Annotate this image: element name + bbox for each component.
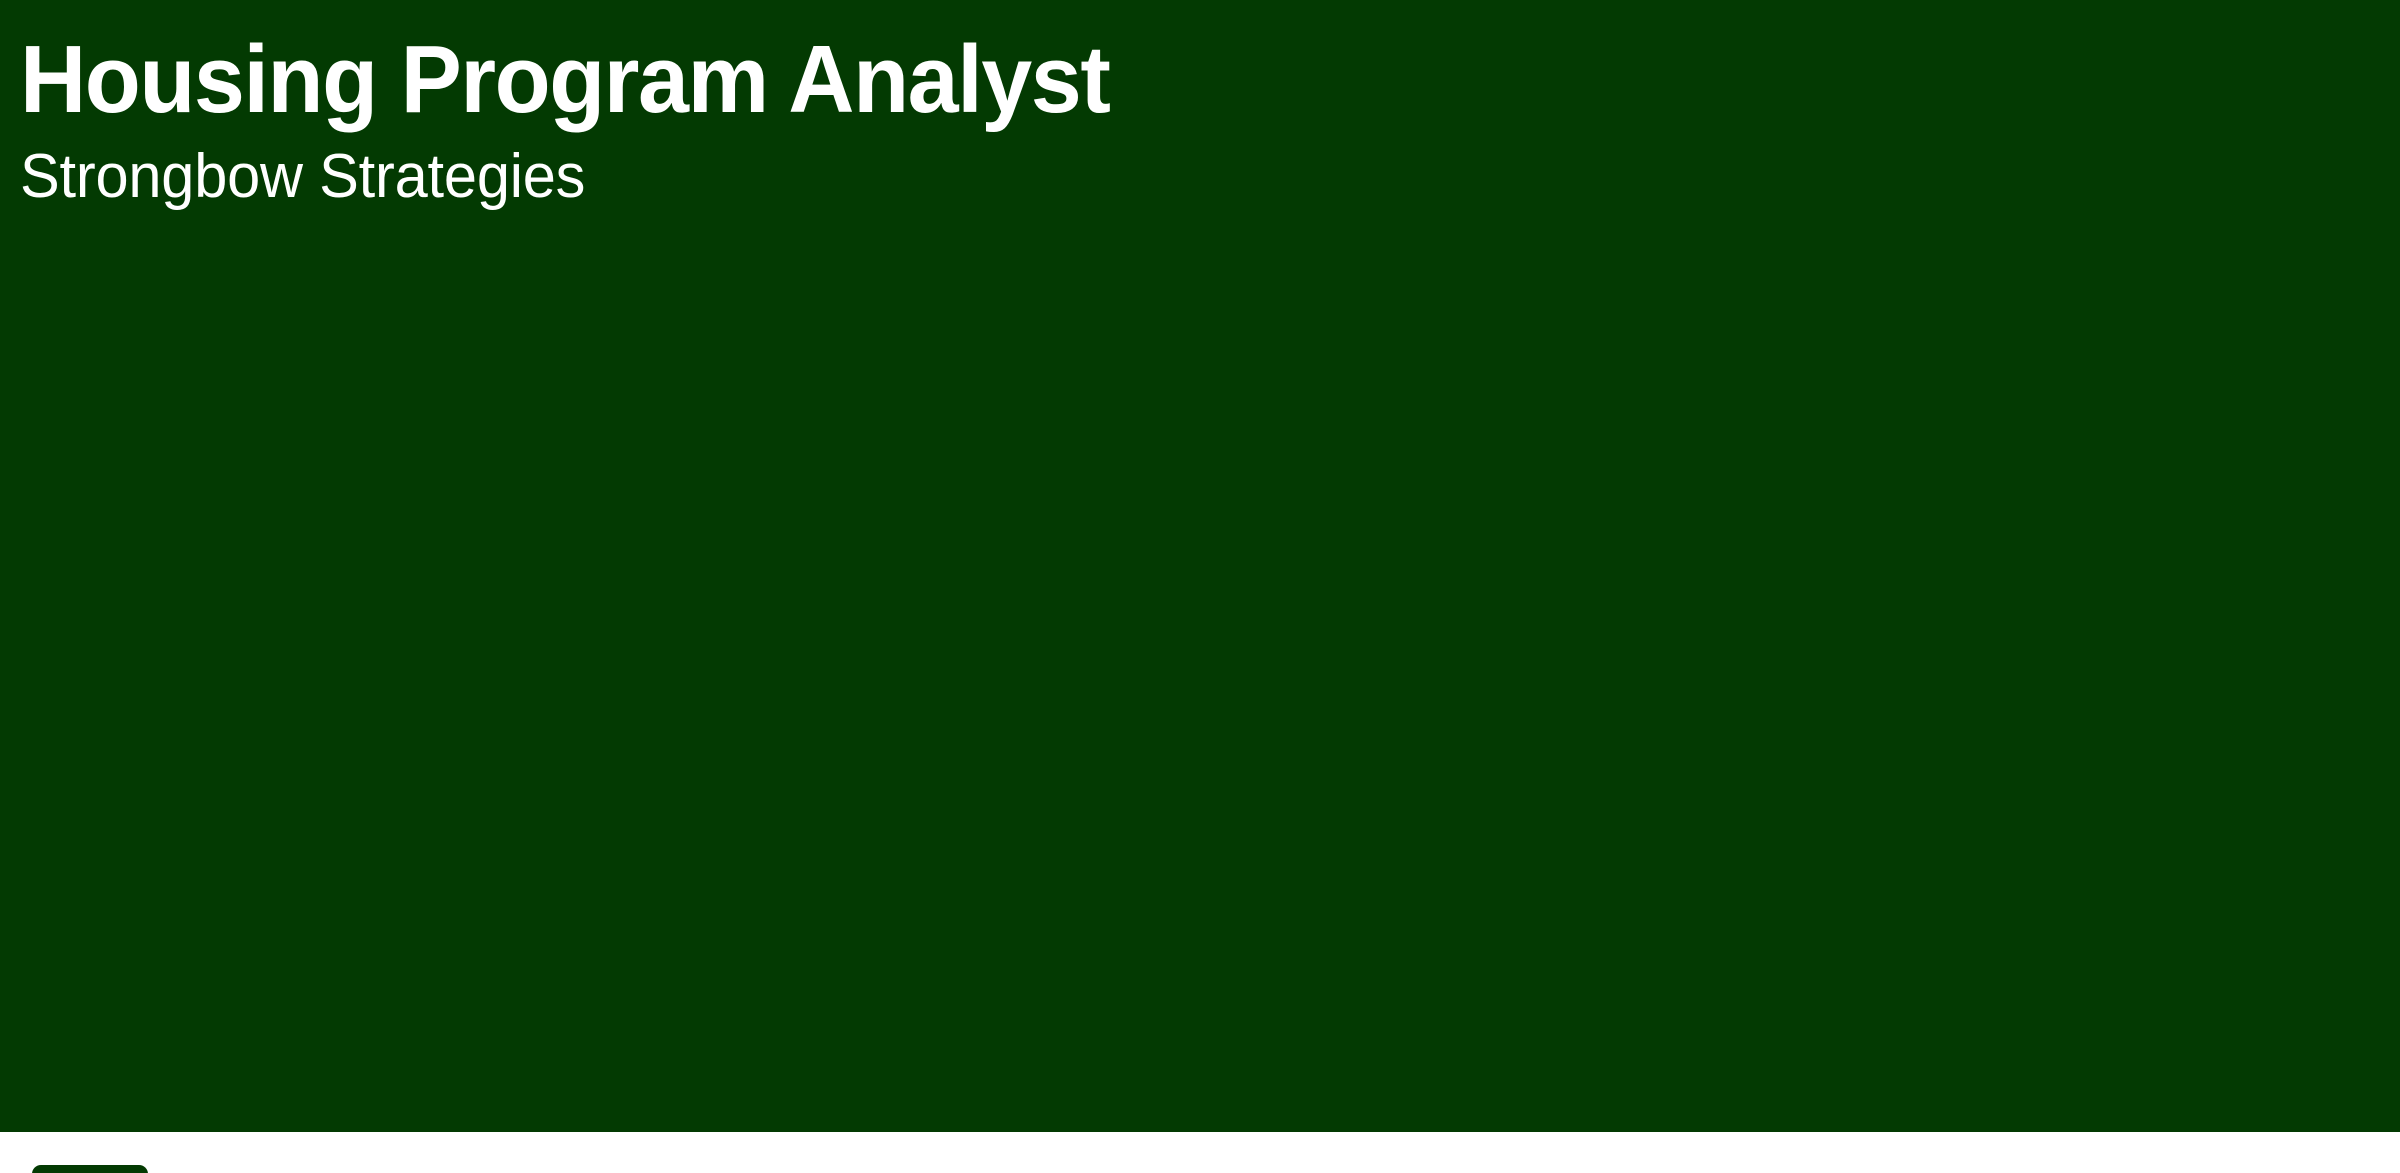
- job-meta-row: Full-time Remote Posted today: [32, 1165, 2372, 1173]
- job-posted-text: Posted today: [514, 1165, 637, 1173]
- company-name: Strongbow Strategies: [20, 146, 585, 208]
- job-location-text: Remote: [341, 1165, 415, 1173]
- page-title: Housing Program Analyst: [20, 32, 1109, 128]
- content-area: Full-time Remote Posted today: [0, 1132, 2400, 1173]
- employment-type-badge[interactable]: Full-time: [32, 1165, 148, 1173]
- hero-banner: Housing Program Analyst Strongbow Strate…: [0, 0, 2400, 1132]
- page-root: Housing Program Analyst Strongbow Strate…: [0, 0, 2400, 1173]
